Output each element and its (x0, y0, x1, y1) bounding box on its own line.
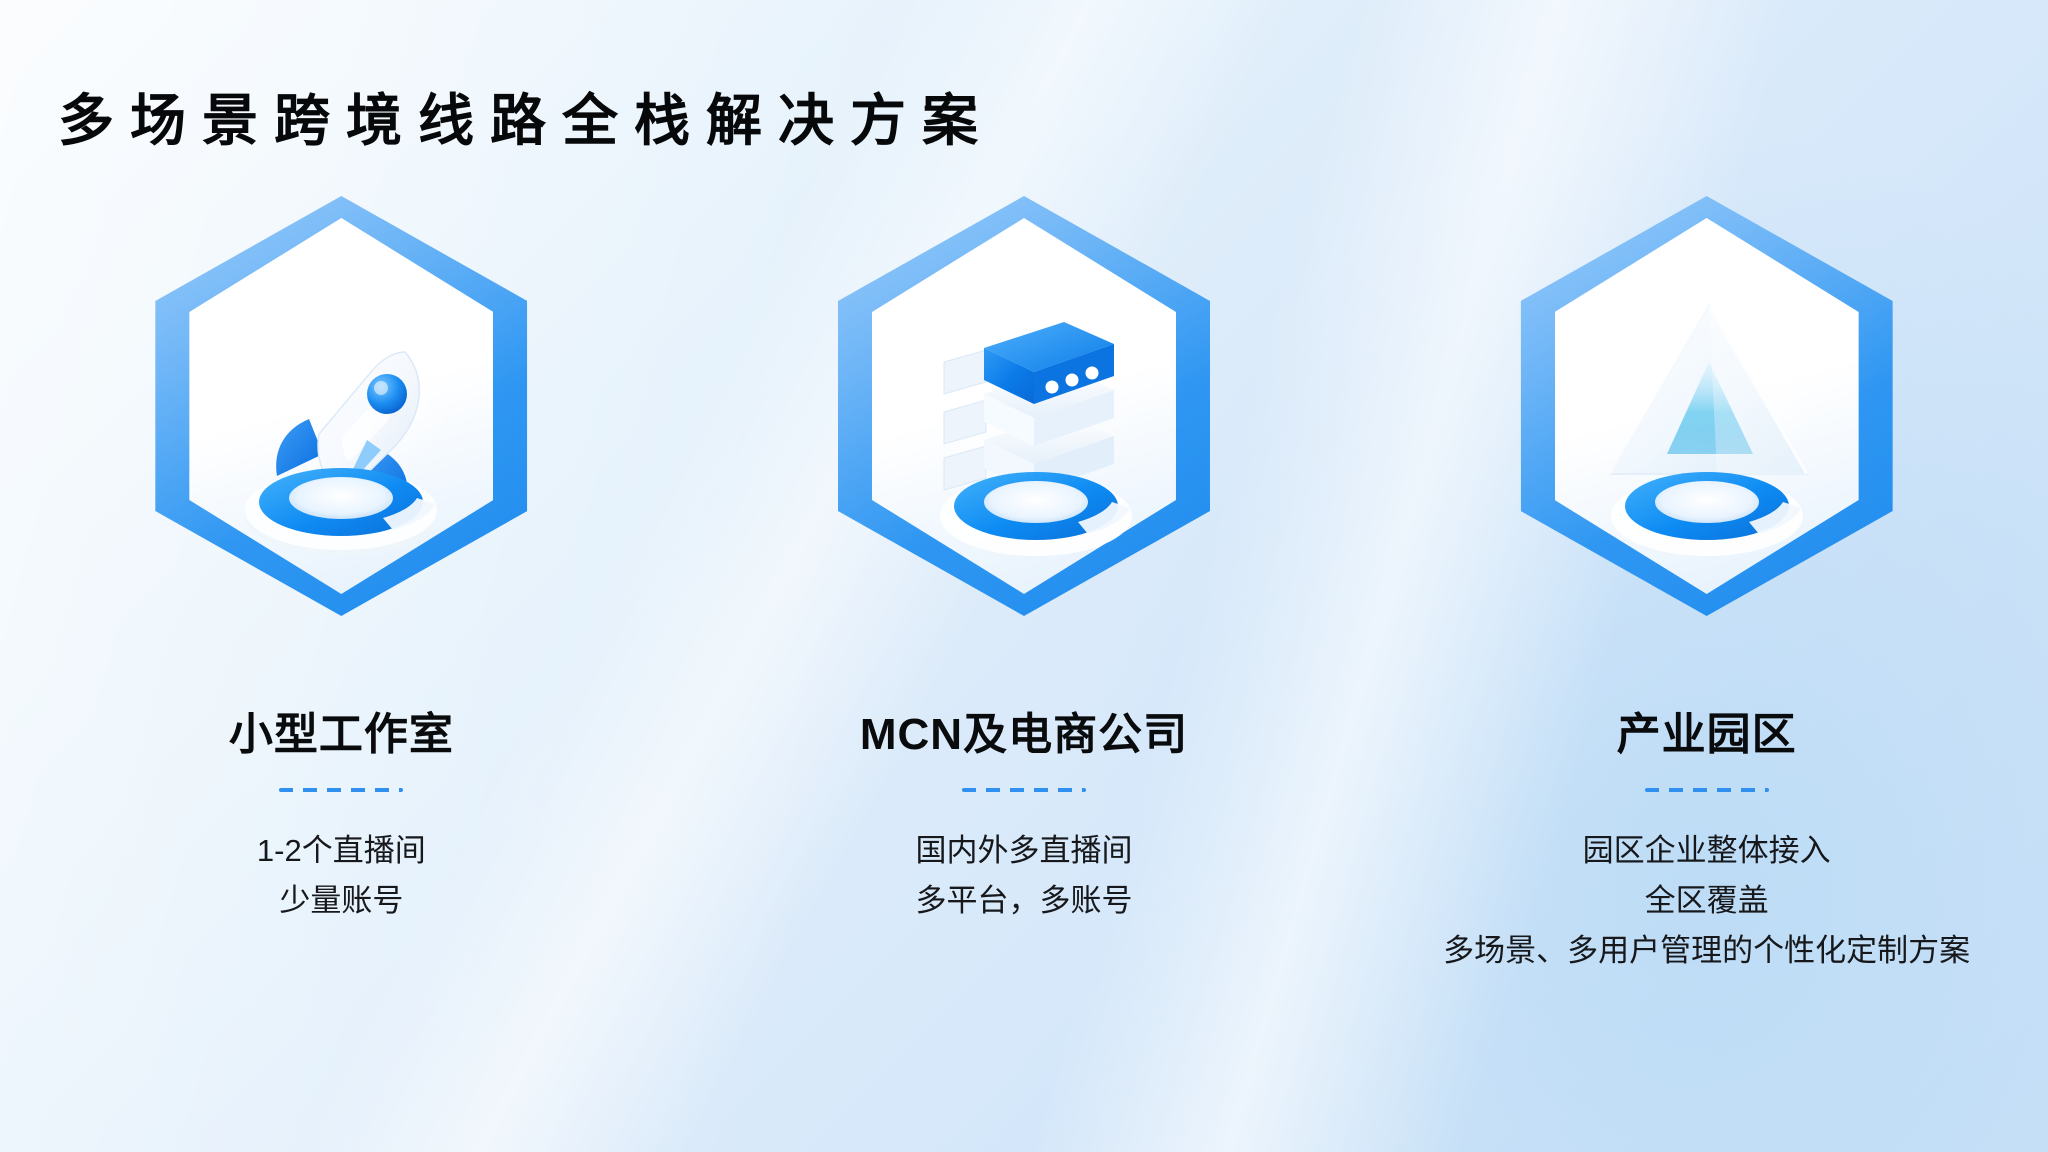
solution-card[interactable]: 产业园区 园区企业整体接入 全区覆盖 多场景、多用户管理的个性化定制方案 (1397, 196, 2017, 977)
hexagon-badge (141, 196, 541, 636)
card-body: 园区企业整体接入 全区覆盖 多场景、多用户管理的个性化定制方案 (1443, 826, 1970, 977)
rocket-icon (191, 244, 491, 574)
card-body-line: 全区覆盖 (1443, 876, 1970, 926)
card-body: 国内外多直播间 多平台，多账号 (915, 826, 1132, 926)
card-divider (1645, 788, 1769, 792)
card-title: 小型工作室 (229, 698, 454, 762)
card-body: 1-2个直播间 少量账号 (257, 826, 426, 926)
glass-pyramid-icon (1557, 244, 1857, 574)
card-body-line: 多场景、多用户管理的个性化定制方案 (1443, 926, 1970, 976)
card-body-line: 园区企业整体接入 (1443, 826, 1970, 876)
hexagon-badge (824, 196, 1224, 636)
card-title: 产业园区 (1617, 698, 1797, 762)
server-stack-icon (874, 244, 1174, 574)
card-title: MCN及电商公司 (860, 698, 1188, 762)
card-divider (279, 788, 403, 792)
card-body-line: 1-2个直播间 (257, 826, 426, 876)
card-divider (962, 788, 1086, 792)
solution-card-row: 小型工作室 1-2个直播间 少量账号 (0, 196, 2048, 977)
solution-card[interactable]: 小型工作室 1-2个直播间 少量账号 (31, 196, 651, 926)
card-body-line: 少量账号 (257, 876, 426, 926)
hexagon-badge (1507, 196, 1907, 636)
page-title: 多场景跨境线路全栈解决方案 (58, 90, 994, 152)
card-body-line: 多平台，多账号 (915, 876, 1132, 926)
solution-card[interactable]: MCN及电商公司 国内外多直播间 多平台，多账号 (714, 196, 1334, 926)
slide-canvas: 多场景跨境线路全栈解决方案 (0, 0, 2048, 1152)
card-body-line: 国内外多直播间 (915, 826, 1132, 876)
